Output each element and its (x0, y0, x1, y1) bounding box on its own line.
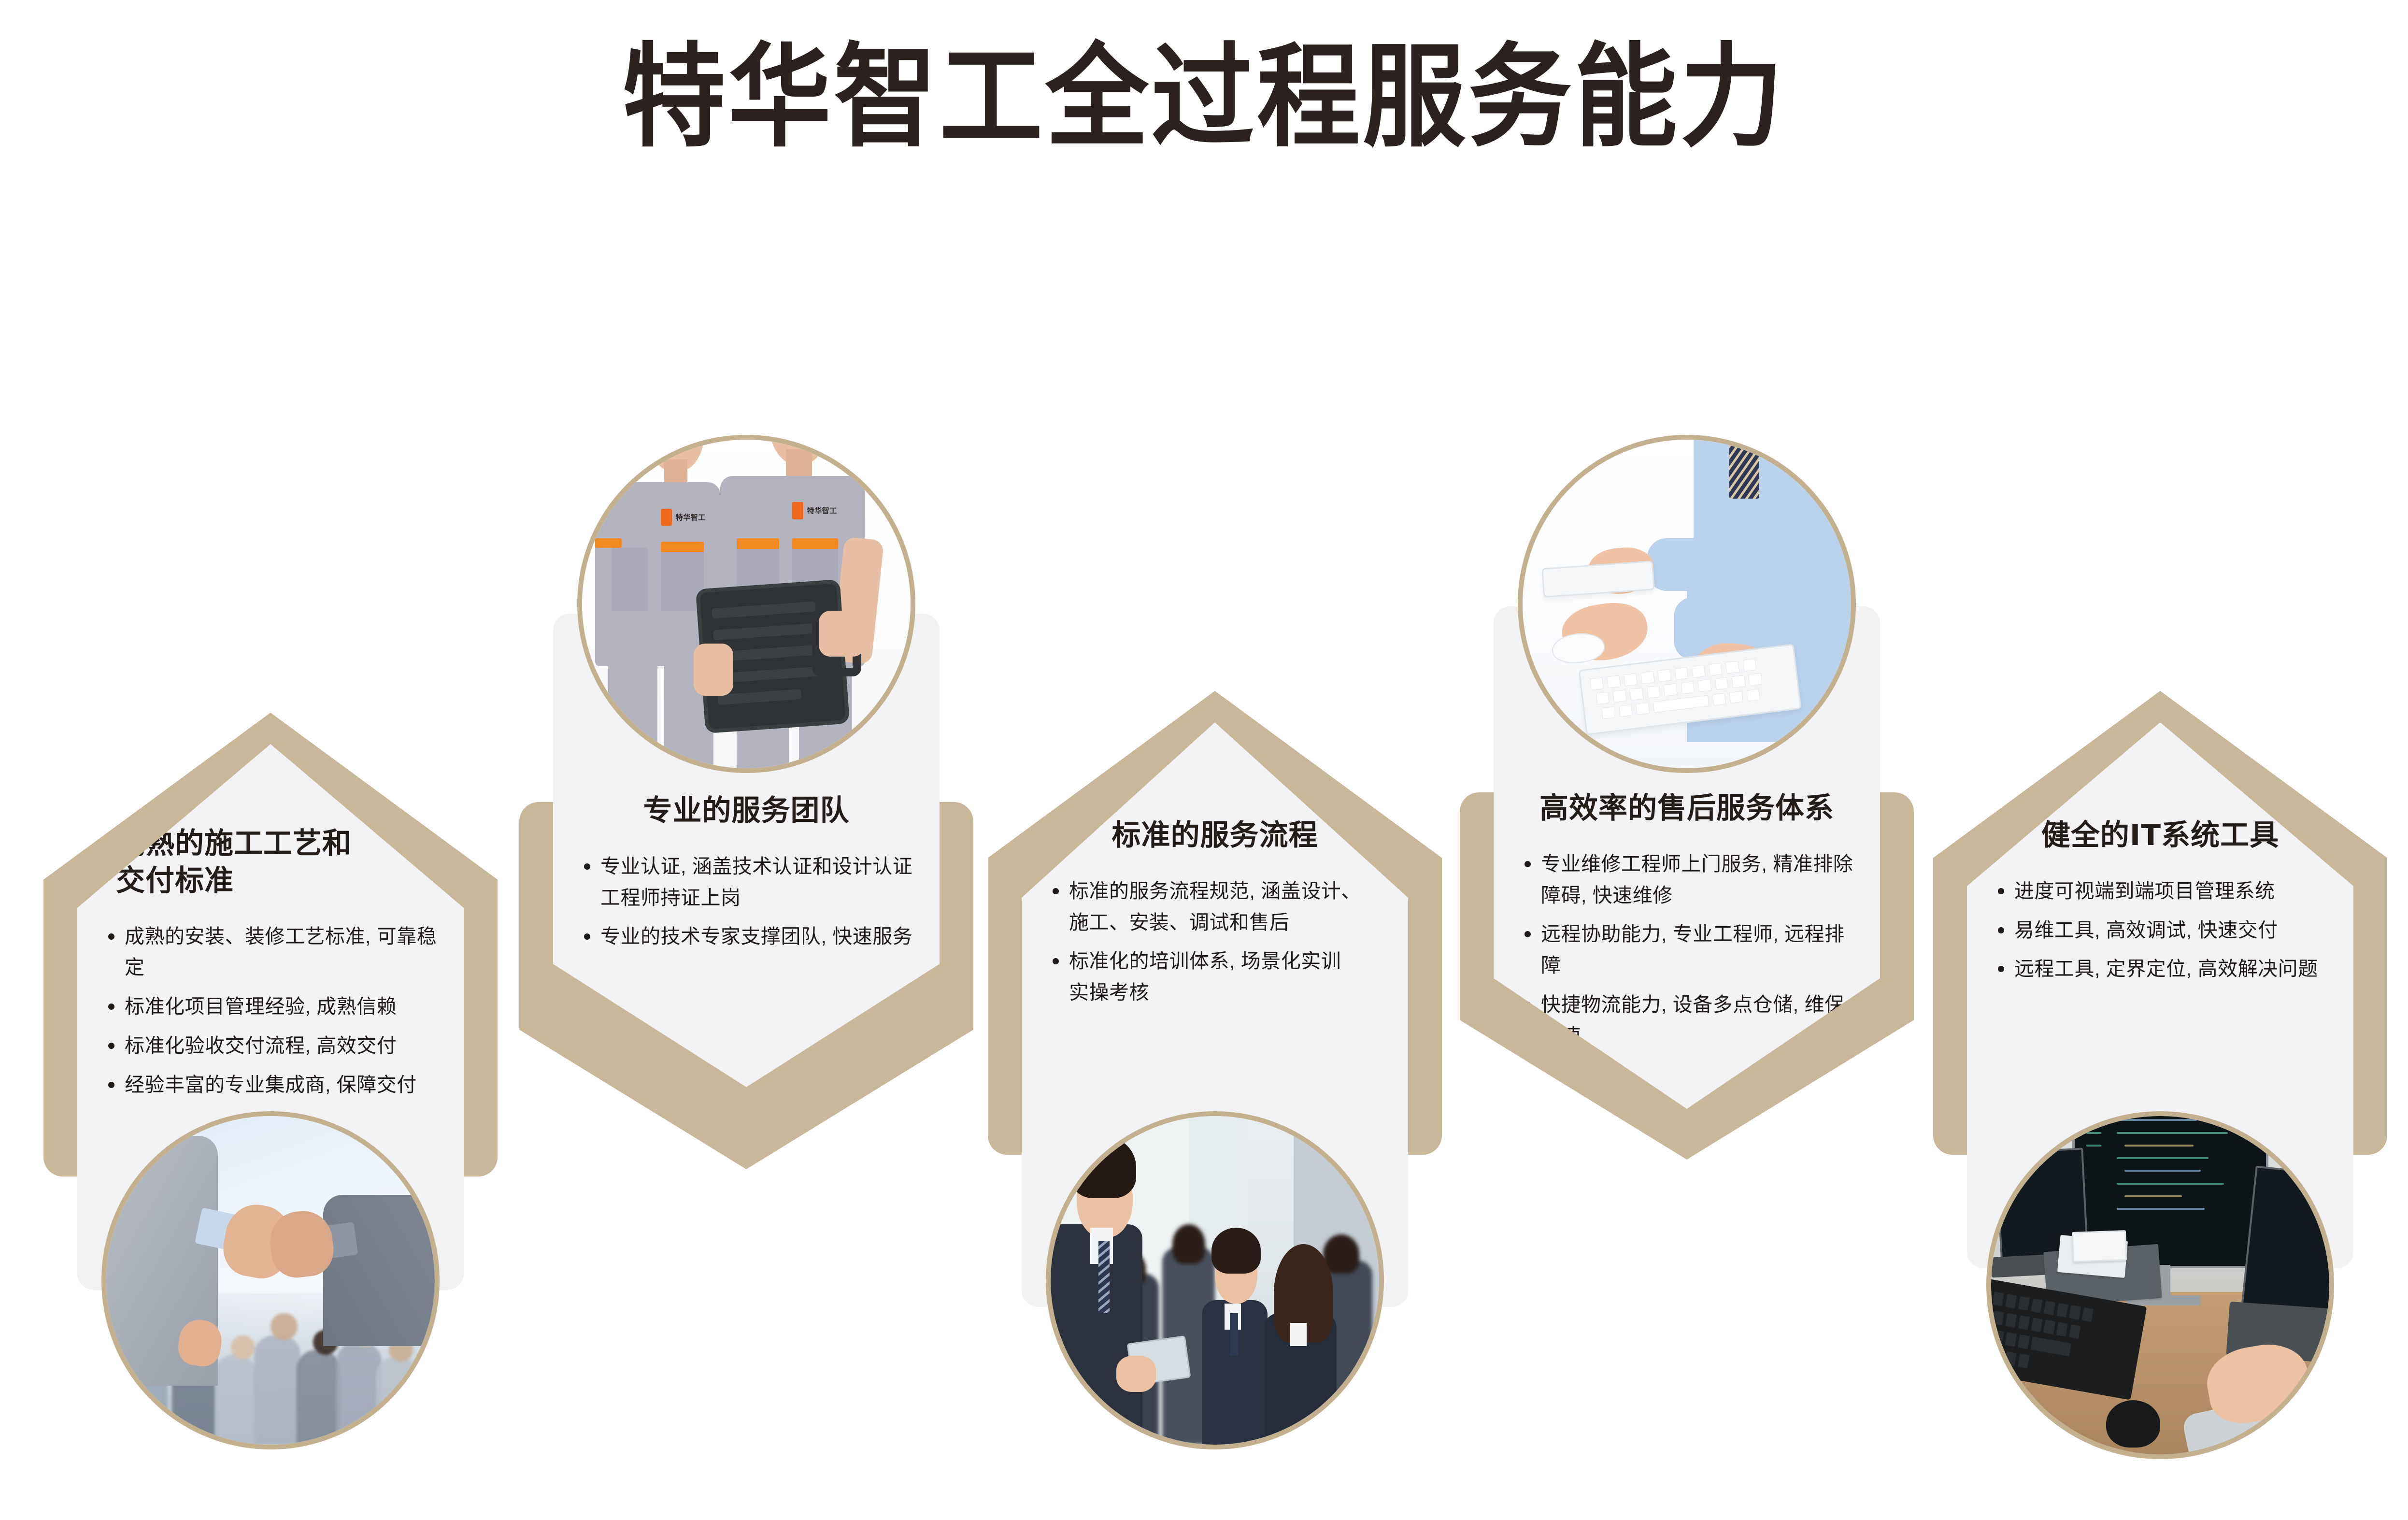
right-laptop-screen (2241, 1166, 2334, 1317)
uniform-logo-left: 特华智工 (676, 512, 706, 522)
list-item: 成熟的安装、装修工艺标准, 可靠稳定 (102, 921, 439, 984)
list-item: 专业维修工程师上门服务, 精准排除 障碍, 快速维修 (1519, 848, 1855, 911)
card-column-2: 专业的服务团队 专业认证, 涵盖技术认证和设计认证 工程师持证上岗 专业的技术专… (505, 0, 988, 1520)
list-item: 易维工具, 高效调试, 快速交付 (1992, 915, 2328, 946)
card-title-4: 高效率的售后服务体系 (1519, 790, 1855, 827)
uniform-logo-right: 特华智工 (807, 505, 837, 516)
card-title-5: 健全的IT系统工具 (1992, 817, 2328, 854)
suit-right (323, 1195, 440, 1346)
infographic-canvas: 特华智工全过程服务能力 成熟的施工工艺和 交付标准 成熟的安装、装修工艺标准, … (0, 0, 2408, 1520)
list-item: 标准化项目管理经验, 成熟信赖 (102, 991, 439, 1022)
necktie (1729, 435, 1759, 499)
typing-scene (1523, 440, 1851, 768)
tablet-on-desk (2072, 1230, 2127, 1262)
dev-workstation-photo (1986, 1111, 2334, 1459)
list-item: 标准化的培训体系, 场景化实训 实操考核 (1047, 946, 1383, 1008)
dev-scene (1991, 1116, 2329, 1454)
training-scene (1051, 1116, 1379, 1445)
list-item: 标准的服务流程规范, 涵盖设计、 施工、安装、调试和售后 (1047, 875, 1383, 938)
card-bullets-4: 专业维修工程师上门服务, 精准排除 障碍, 快速维修 远程协助能力, 专业工程师… (1519, 848, 1855, 1052)
list-item: 专业认证, 涵盖技术认证和设计认证 工程师持证上岗 (578, 851, 914, 914)
company-logo-mark-right (792, 502, 803, 519)
desk-mouse (2106, 1400, 2160, 1448)
card-column-3: 标准的服务流程 标准的服务流程规范, 涵盖设计、 施工、安装、调试和售后 标准化… (973, 0, 1456, 1520)
list-item: 远程协助能力, 专业工程师, 远程排障 (1519, 918, 1855, 981)
list-item: 标准化验收交付流程, 高效交付 (102, 1030, 439, 1061)
handshake-scene (106, 1116, 435, 1445)
card-column-1: 成熟的施工工艺和 交付标准 成熟的安装、装修工艺标准, 可靠稳定 标准化项目管理… (29, 0, 512, 1520)
card-column-4: 高效率的售后服务体系 专业维修工程师上门服务, 精准排除 障碍, 快速维修 远程… (1445, 0, 1928, 1520)
training-photo (1046, 1111, 1384, 1449)
card-bullets-1: 成熟的安装、装修工艺标准, 可靠稳定 标准化项目管理经验, 成熟信赖 标准化验收… (102, 921, 439, 1101)
card-column-5: 健全的IT系统工具 进度可视端到端项目管理系统 易维工具, 高效调试, 快速交付… (1919, 0, 2402, 1520)
technicians-scene: 特华智工 特华智工 (582, 440, 911, 768)
handshake-photo (101, 1111, 440, 1449)
support-typing-photo (1518, 435, 1856, 773)
instructor-hand (1116, 1356, 1156, 1392)
keyboard-back (1541, 560, 1655, 598)
list-item: 远程工具, 定界定位, 高效解决问题 (1992, 953, 2328, 985)
card-bullets-5: 进度可视端到端项目管理系统 易维工具, 高效调试, 快速交付 远程工具, 定界定… (1992, 875, 2328, 985)
company-logo-mark-left (661, 509, 672, 526)
list-item: 经验丰富的专业集成商, 保障交付 (102, 1069, 439, 1101)
card-bullets-2: 专业认证, 涵盖技术认证和设计认证 工程师持证上岗 专业的技术专家支撑团队, 快… (578, 851, 914, 952)
list-item: 进度可视端到端项目管理系统 (1992, 875, 2328, 907)
card-bullets-3: 标准的服务流程规范, 涵盖设计、 施工、安装、调试和售后 标准化的培训体系, 场… (1047, 875, 1383, 1008)
card-title-2: 专业的服务团队 (578, 792, 914, 830)
technicians-photo: 特华智工 特华智工 (577, 435, 915, 773)
list-item: 专业的技术专家支撑团队, 快速服务 (578, 921, 914, 952)
